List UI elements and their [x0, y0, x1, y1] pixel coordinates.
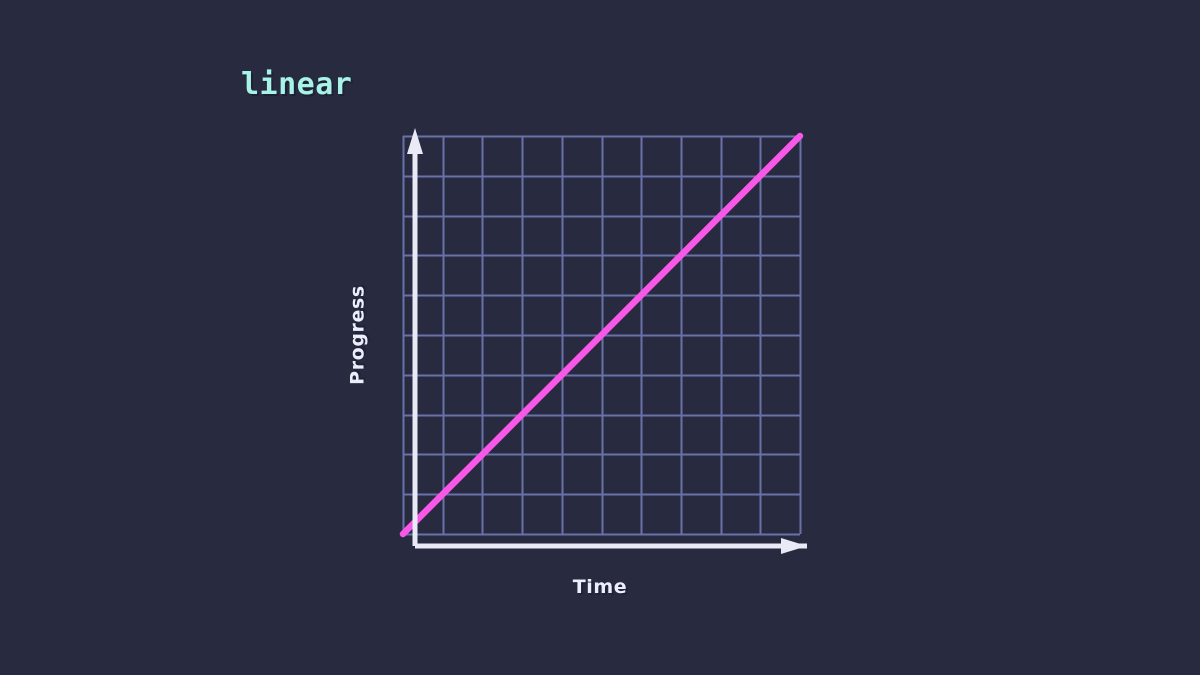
x-axis-label: Time [0, 578, 1200, 597]
plot-area [403, 136, 800, 534]
arrow-right-icon [781, 538, 807, 554]
arrow-up-icon [407, 128, 423, 154]
chart-canvas: linear Time Progress [0, 0, 1200, 675]
chart-title: linear [241, 70, 352, 100]
axis-lines [403, 136, 823, 556]
y-axis-label: Progress [349, 285, 368, 385]
